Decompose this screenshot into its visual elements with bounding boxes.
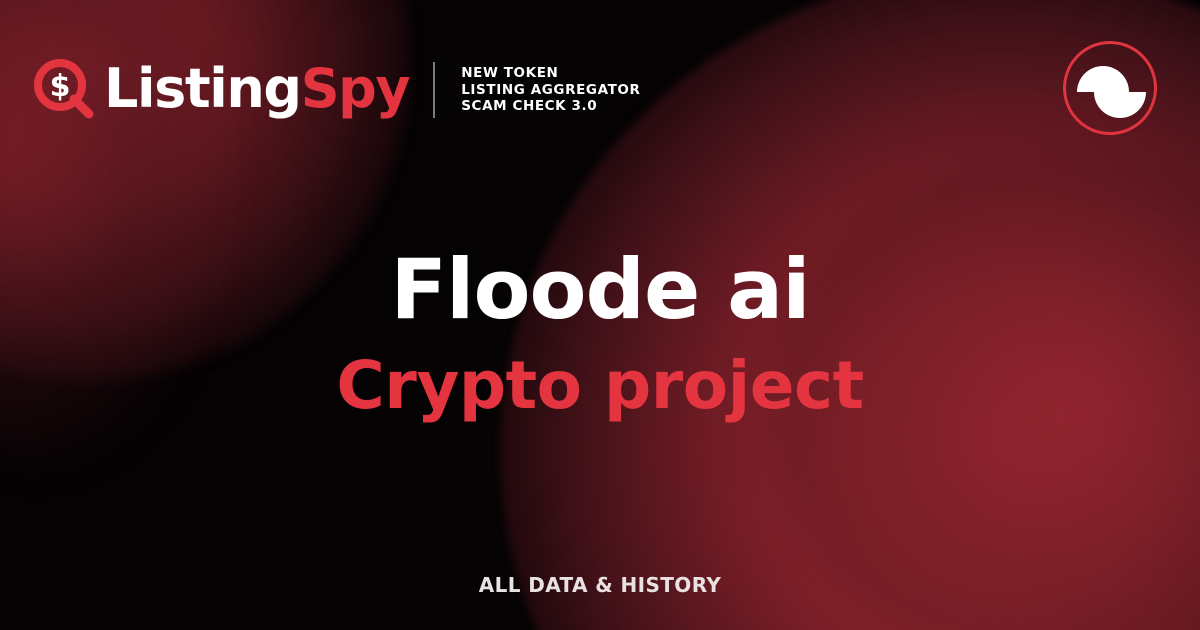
social-share-card: $ ListingSpy NEW TOKEN LISTING AGGREGATO… — [0, 0, 1200, 630]
footer-caption: ALL DATA & HISTORY — [0, 573, 1200, 597]
page-subtitle: Crypto project — [0, 353, 1200, 419]
tagline-line-2: LISTING AGGREGATOR — [461, 82, 640, 99]
svg-text:$: $ — [50, 69, 71, 104]
brand-tagline: NEW TOKEN LISTING AGGREGATOR SCAM CHECK … — [461, 65, 640, 115]
split-circle-logo-icon — [1063, 41, 1157, 135]
headline-block: Floode ai Crypto project — [0, 248, 1200, 419]
tagline-line-1: NEW TOKEN — [461, 65, 640, 82]
brand-header: $ ListingSpy NEW TOKEN LISTING AGGREGATO… — [34, 52, 640, 128]
header-divider — [433, 62, 435, 118]
page-title: Floode ai — [0, 248, 1200, 331]
magnifier-dollar-icon: $ — [34, 59, 96, 121]
brand-wordmark: ListingSpy — [104, 62, 409, 116]
brand-name-light: Listing — [104, 57, 301, 120]
brand-name-accent: Spy — [301, 57, 410, 120]
tagline-line-3: SCAM CHECK 3.0 — [461, 98, 640, 115]
